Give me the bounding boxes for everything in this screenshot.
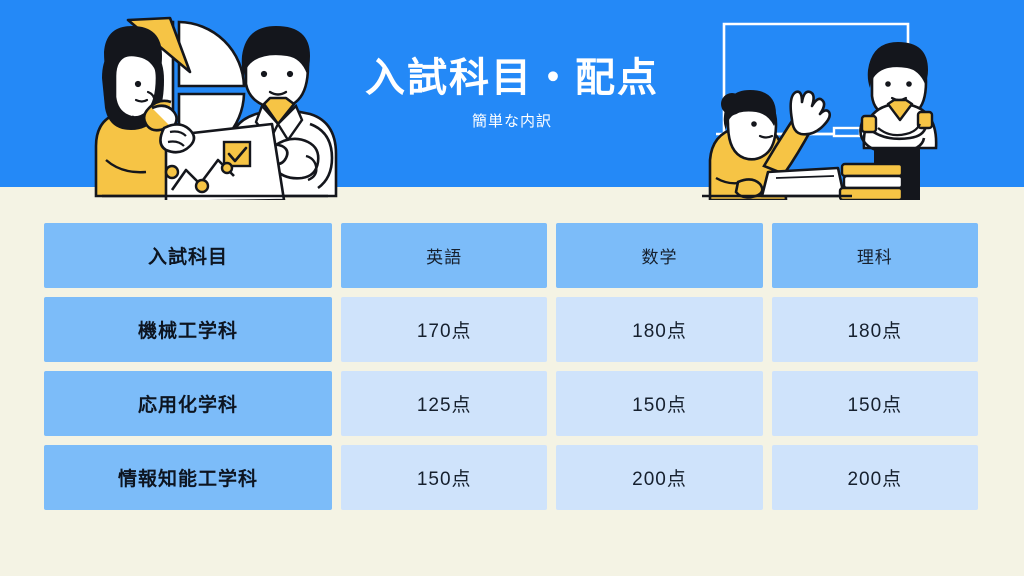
table-row: 機械工学科 170点 180点 180点	[44, 297, 978, 362]
row-value-english: 125点	[341, 371, 547, 436]
table-row: 情報知能工学科 150点 200点 200点	[44, 445, 978, 510]
row-value-math: 200点	[556, 445, 762, 510]
row-value-english: 170点	[341, 297, 547, 362]
table-header-subject: 入試科目	[44, 223, 332, 288]
hands-holding-document	[160, 124, 194, 152]
book-stack-icon	[840, 164, 902, 200]
table-header-row: 入試科目 英語 数学 理科	[44, 223, 978, 288]
row-value-math: 150点	[556, 371, 762, 436]
exam-subject-score-table: 入試科目 英語 数学 理科 機械工学科 170点 180点 180点 応用化学科…	[44, 223, 978, 510]
right-illustration	[692, 0, 942, 200]
left-illustration	[78, 0, 358, 200]
row-value-science: 200点	[772, 445, 978, 510]
row-label: 機械工学科	[44, 297, 332, 362]
table-header-science: 理科	[772, 223, 978, 288]
table-header-english: 英語	[341, 223, 547, 288]
laptop-icon	[762, 168, 844, 196]
row-value-math: 180点	[556, 297, 762, 362]
row-value-english: 150点	[341, 445, 547, 510]
row-label: 情報知能工学科	[44, 445, 332, 510]
row-value-science: 150点	[772, 371, 978, 436]
table-row: 応用化学科 125点 150点 150点	[44, 371, 978, 436]
table-header-math: 数学	[556, 223, 762, 288]
row-label: 応用化学科	[44, 371, 332, 436]
row-value-science: 180点	[772, 297, 978, 362]
